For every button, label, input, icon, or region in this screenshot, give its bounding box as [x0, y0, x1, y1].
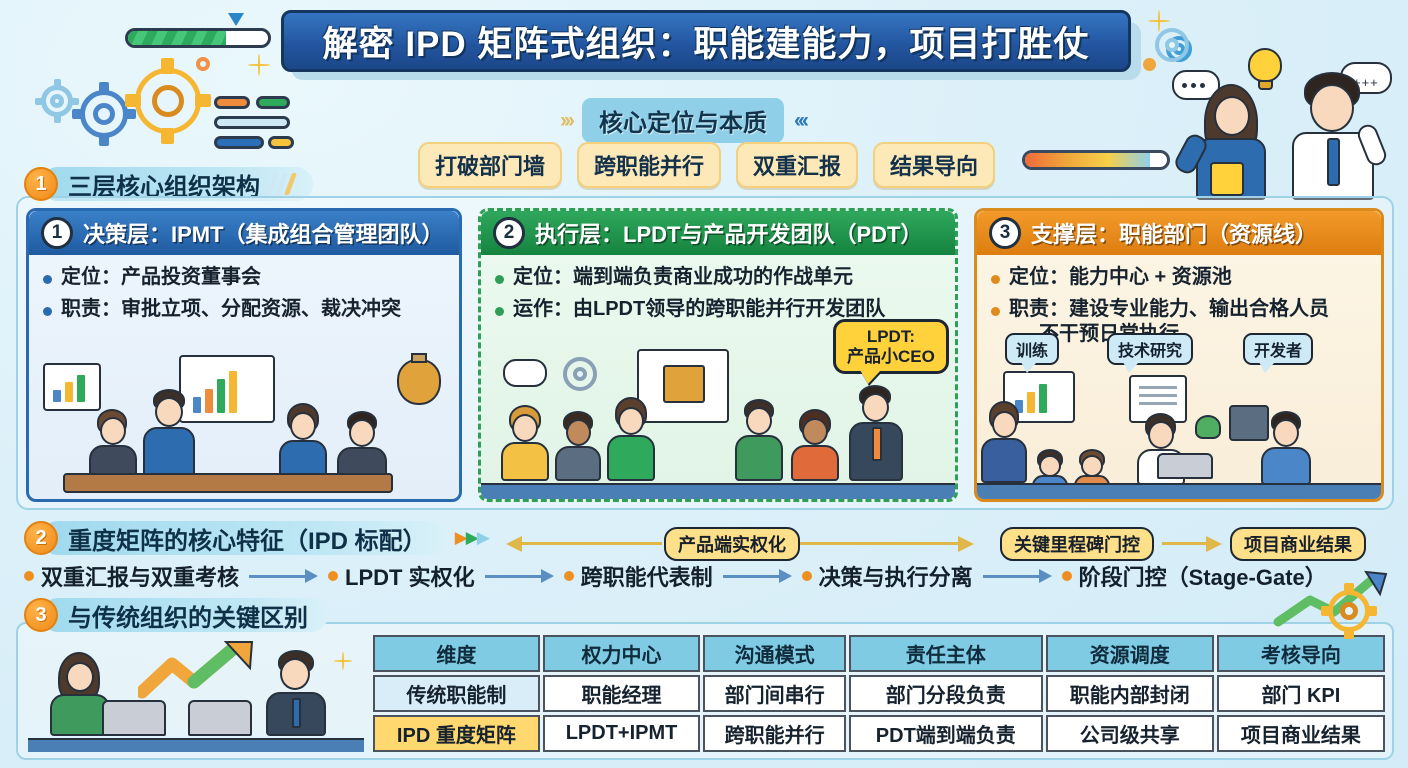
progress-bar-decor — [125, 28, 271, 48]
cell-r1c4: 公司级共享 — [1046, 715, 1214, 752]
section-2-number: 2 — [24, 521, 58, 555]
speech-bubble-icon-right: +++ — [1340, 62, 1392, 94]
list-item: 定位：端到端负责商业成功的作战单元 — [495, 265, 941, 291]
card-3-bullet-2: 职责：建设专业能力、输出合格人员 — [1009, 298, 1329, 320]
flow-arrow-left — [506, 536, 522, 552]
cell-r0c1: 职能经理 — [543, 675, 701, 712]
hatch-decor-1 — [266, 173, 297, 195]
chain-label-2: LPDT 实权化 — [345, 560, 475, 592]
card-1-bullets: 定位：产品投资董事会 职责：审批立项、分配资源、裁决冲突 — [29, 255, 459, 332]
cell-r0c2: 部门间串行 — [703, 675, 846, 712]
flow-line-right — [800, 542, 960, 545]
chain-arrow-2 — [485, 569, 554, 583]
card-execution-layer[interactable]: 2 执行层：LPDT与产品开发团队（PDT） 定位：端到端负责商业成功的作战单元… — [478, 208, 958, 502]
speech-bubble-icon-left — [1172, 70, 1220, 100]
dot-orange-decor — [1143, 58, 1156, 71]
chip-green-decor — [256, 96, 290, 109]
character-seated-1 — [87, 409, 139, 481]
card-2-bullet-1: 定位：端到端负责商业成功的作战单元 — [513, 265, 853, 291]
section-3-number: 3 — [24, 598, 58, 632]
tablet-icon — [1210, 162, 1244, 196]
cell-r1c2: 跨职能并行 — [703, 715, 846, 752]
speech-bubble-icon-team — [503, 359, 547, 387]
growth-arrow-icon — [138, 640, 258, 700]
cell-r0c3: 部门分段负责 — [849, 675, 1043, 712]
character-woman-top — [1188, 80, 1274, 200]
money-bag-tie — [411, 353, 427, 363]
character-seated-2 — [277, 403, 329, 481]
infographic-canvas: 解密 IPD 矩阵式组织：职能建能力，项目打胜仗 +++ — [0, 0, 1408, 768]
tag-developer: 开发者 — [1243, 333, 1313, 365]
character-team-6 — [847, 385, 905, 481]
illustration-meeting — [29, 349, 459, 499]
table-row: IPD 重度矩阵 LPDT+IPMT 跨职能并行 PDT端到端负责 公司级共享 … — [373, 715, 1385, 752]
core-positioning-header: ››› 核心定位与本质 ‹‹‹ — [560, 98, 806, 143]
laptop-icon-right — [188, 700, 252, 736]
flow-line-left — [522, 542, 662, 545]
flow-line-mid2 — [1162, 542, 1208, 545]
comparison-table: 维度 权力中心 沟通模式 责任主体 资源调度 考核导向 传统职能制 职能经理 部… — [370, 632, 1388, 755]
card-3-title: 支撑层：职能部门（资源线） — [1031, 217, 1317, 249]
character-team-3 — [605, 397, 657, 481]
chain-node-2: LPDT 实权化 — [328, 560, 475, 592]
card-2-bullet-2: 运作：由LPDT领导的跨职能并行开发团队 — [513, 297, 885, 323]
cell-r1c5: 项目商业结果 — [1217, 715, 1385, 752]
chain-node-4: 决策与执行分离 — [802, 560, 973, 592]
chain-arrow-1 — [249, 569, 318, 583]
flow-pill-result[interactable]: 项目商业结果 — [1230, 527, 1366, 561]
box-icon — [663, 365, 705, 403]
chip-yellow-decor — [268, 136, 294, 149]
card-1-title: 决策层：IPMT（集成组合管理团队） — [83, 217, 444, 249]
tag-training: 训练 — [1005, 333, 1059, 365]
gear-icon-tiny — [196, 57, 210, 71]
chain-arrow-3 — [723, 569, 792, 583]
lightbulb-base — [1258, 80, 1273, 90]
core-tag-row: 打破部门墙 跨职能并行 双重汇报 结果导向 — [418, 142, 995, 188]
col-resource: 资源调度 — [1046, 635, 1214, 672]
card-1-bullet-1: 定位：产品投资董事会 — [61, 265, 261, 291]
lpdt-callout-line2: 产品小CEO — [847, 347, 935, 367]
section-header-2: 2 重度矩阵的核心特征（IPD 标配） ▶▶▶ — [24, 521, 488, 555]
arrows-right-decor: ‹‹‹ — [794, 109, 806, 133]
page-title-text: 解密 IPD 矩阵式组织：职能建能力，项目打胜仗 — [323, 16, 1090, 67]
col-assessment: 考核导向 — [1217, 635, 1385, 672]
chain-node-1: 双重汇报与双重考核 — [24, 560, 239, 592]
card-3-band: 3 支撑层：职能部门（资源线） — [977, 211, 1381, 255]
laptop-icon-left — [102, 700, 166, 736]
three-layer-structure-panel: 1 决策层：IPMT（集成组合管理团队） 定位：产品投资董事会 职责：审批立项、… — [16, 196, 1394, 510]
card-support-layer[interactable]: 3 支撑层：职能部门（资源线） 定位：能力中心 + 资源池 职责：建设专业能力、… — [974, 208, 1384, 502]
progress-bar-gradient-decor — [1022, 150, 1170, 170]
section-2-title: 重度矩阵的核心特征（IPD 标配） — [68, 521, 427, 556]
chip-blue-decor — [214, 136, 264, 149]
decoration-top-left — [0, 0, 300, 170]
arrows-left-decor: ››› — [560, 109, 572, 133]
section-1-number: 1 — [24, 167, 58, 201]
chip-orange-decor — [214, 96, 250, 109]
col-dimension: 维度 — [373, 635, 540, 672]
section-3-title: 与传统组织的关键区别 — [68, 598, 308, 633]
card-2-title: 执行层：LPDT与产品开发团队（PDT） — [535, 217, 922, 249]
character-presenter — [141, 389, 197, 481]
growth-arrow-svg — [138, 640, 258, 700]
gear-icon-blue — [80, 90, 128, 138]
arm-raised-left — [1172, 131, 1210, 177]
chain-node-3: 跨职能代表制 — [564, 560, 713, 592]
list-item: 职责：审批立项、分配资源、裁决冲突 — [43, 297, 445, 323]
cell-r1c1: LPDT+IPMT — [543, 715, 701, 752]
lpdt-callout-badge: LPDT: 产品小CEO — [833, 319, 949, 374]
flow-pill-center[interactable]: 产品端实权化 — [664, 527, 800, 561]
sparkle-icon-3 — [334, 652, 352, 670]
col-comm-mode: 沟通模式 — [703, 635, 846, 672]
money-bag-icon — [397, 359, 441, 405]
flow-arrow-right — [958, 536, 974, 552]
chain-arrow-4 — [983, 569, 1052, 583]
cell-r0c4: 职能内部封闭 — [1046, 675, 1214, 712]
sparkle-icon — [248, 54, 270, 76]
core-tag-1[interactable]: 打破部门墙 — [418, 142, 562, 188]
character-seated-3 — [335, 411, 389, 481]
flow-pill-milestone[interactable]: 关键里程碑门控 — [1000, 527, 1154, 561]
comparison-panel: 维度 权力中心 沟通模式 责任主体 资源调度 考核导向 传统职能制 职能经理 部… — [16, 622, 1394, 760]
gear-icon-yellow — [135, 68, 201, 134]
feature-chain: 双重汇报与双重考核 LPDT 实权化 跨职能代表制 决策与执行分离 阶段门控（S… — [24, 560, 1384, 592]
chain-label-1: 双重汇报与双重考核 — [41, 560, 239, 592]
card-2-band: 2 执行层：LPDT与产品开发团队（PDT） — [481, 211, 955, 255]
chain-label-3: 跨职能代表制 — [581, 560, 713, 592]
character-team-4 — [733, 399, 785, 481]
flow-arrow-mid2 — [1206, 536, 1222, 552]
illustration-support — [977, 349, 1381, 499]
triangle-arrows-decor: ▶▶▶ — [455, 528, 488, 548]
desk-line-laptops — [28, 738, 364, 752]
arm-raised-right — [1355, 122, 1389, 168]
core-positioning-pill: 核心定位与本质 — [582, 98, 784, 143]
card-1-band: 1 决策层：IPMT（集成组合管理团队） — [29, 211, 459, 255]
card-decision-layer[interactable]: 1 决策层：IPMT（集成组合管理团队） 定位：产品投资董事会 职责：审批立项、… — [26, 208, 462, 502]
tag-tech-research: 技术研究 — [1107, 333, 1193, 365]
character-team-1 — [499, 405, 551, 481]
col-responsibility: 责任主体 — [849, 635, 1043, 672]
cell-r0c5: 部门 KPI — [1217, 675, 1385, 712]
card-1-bullet-2: 职责：审批立项、分配资源、裁决冲突 — [61, 297, 401, 323]
core-tag-3[interactable]: 双重汇报 — [736, 142, 858, 188]
list-item: 定位：产品投资董事会 — [43, 265, 445, 291]
gear-icon-small — [41, 85, 73, 117]
character-team-2 — [553, 411, 603, 481]
card-1-badge: 1 — [41, 217, 73, 249]
gear-icon-team — [563, 357, 597, 391]
character-trainer — [979, 401, 1029, 483]
character-laptop-man — [264, 650, 328, 736]
character-man-top — [1286, 72, 1382, 200]
card-2-badge: 2 — [493, 217, 525, 249]
table-line-team — [481, 483, 955, 499]
section-header-3: 3 与传统组织的关键区别 — [24, 598, 328, 632]
core-tag-4[interactable]: 结果导向 — [873, 142, 995, 188]
cell-r0c0: 传统职能制 — [373, 675, 540, 712]
character-developer — [1259, 411, 1313, 485]
cell-r1c3: PDT端到端负责 — [849, 715, 1043, 752]
card-3-bullet-1: 定位：能力中心 + 资源池 — [1009, 265, 1232, 291]
chain-node-5: 阶段门控（Stage-Gate） — [1062, 560, 1327, 592]
table-header-row: 维度 权力中心 沟通模式 责任主体 资源调度 考核导向 — [373, 635, 1385, 672]
chart-board-icon — [43, 363, 101, 411]
necktie-icon — [1327, 138, 1340, 186]
chip-lightblue-decor — [214, 116, 290, 129]
lpdt-callout-line1: LPDT: — [847, 327, 935, 347]
desk-line-support — [977, 483, 1381, 499]
gear-icon-title-right — [1155, 28, 1189, 62]
col-power-center: 权力中心 — [543, 635, 701, 672]
table-row: 传统职能制 职能经理 部门间串行 部门分段负责 职能内部封闭 部门 KPI — [373, 675, 1385, 712]
cell-r1c0: IPD 重度矩阵 — [373, 715, 540, 752]
flow-top-row: 产品端实权化 关键里程碑门控 项目商业结果 — [500, 527, 1400, 559]
chain-label-4: 决策与执行分离 — [819, 560, 973, 592]
chain-label-5: 阶段门控（Stage-Gate） — [1079, 560, 1327, 592]
illustration-laptops — [28, 632, 364, 752]
character-team-5 — [789, 409, 841, 481]
laptop-icon — [1157, 453, 1213, 479]
card-3-badge: 3 — [989, 217, 1021, 249]
list-item: 定位：能力中心 + 资源池 — [991, 265, 1367, 291]
pointer-marker-icon — [228, 13, 244, 26]
core-tag-2[interactable]: 跨职能并行 — [577, 142, 721, 188]
plant-icon — [1195, 415, 1221, 439]
page-title: 解密 IPD 矩阵式组织：职能建能力，项目打胜仗 — [281, 10, 1141, 80]
lightbulb-icon — [1248, 48, 1282, 82]
